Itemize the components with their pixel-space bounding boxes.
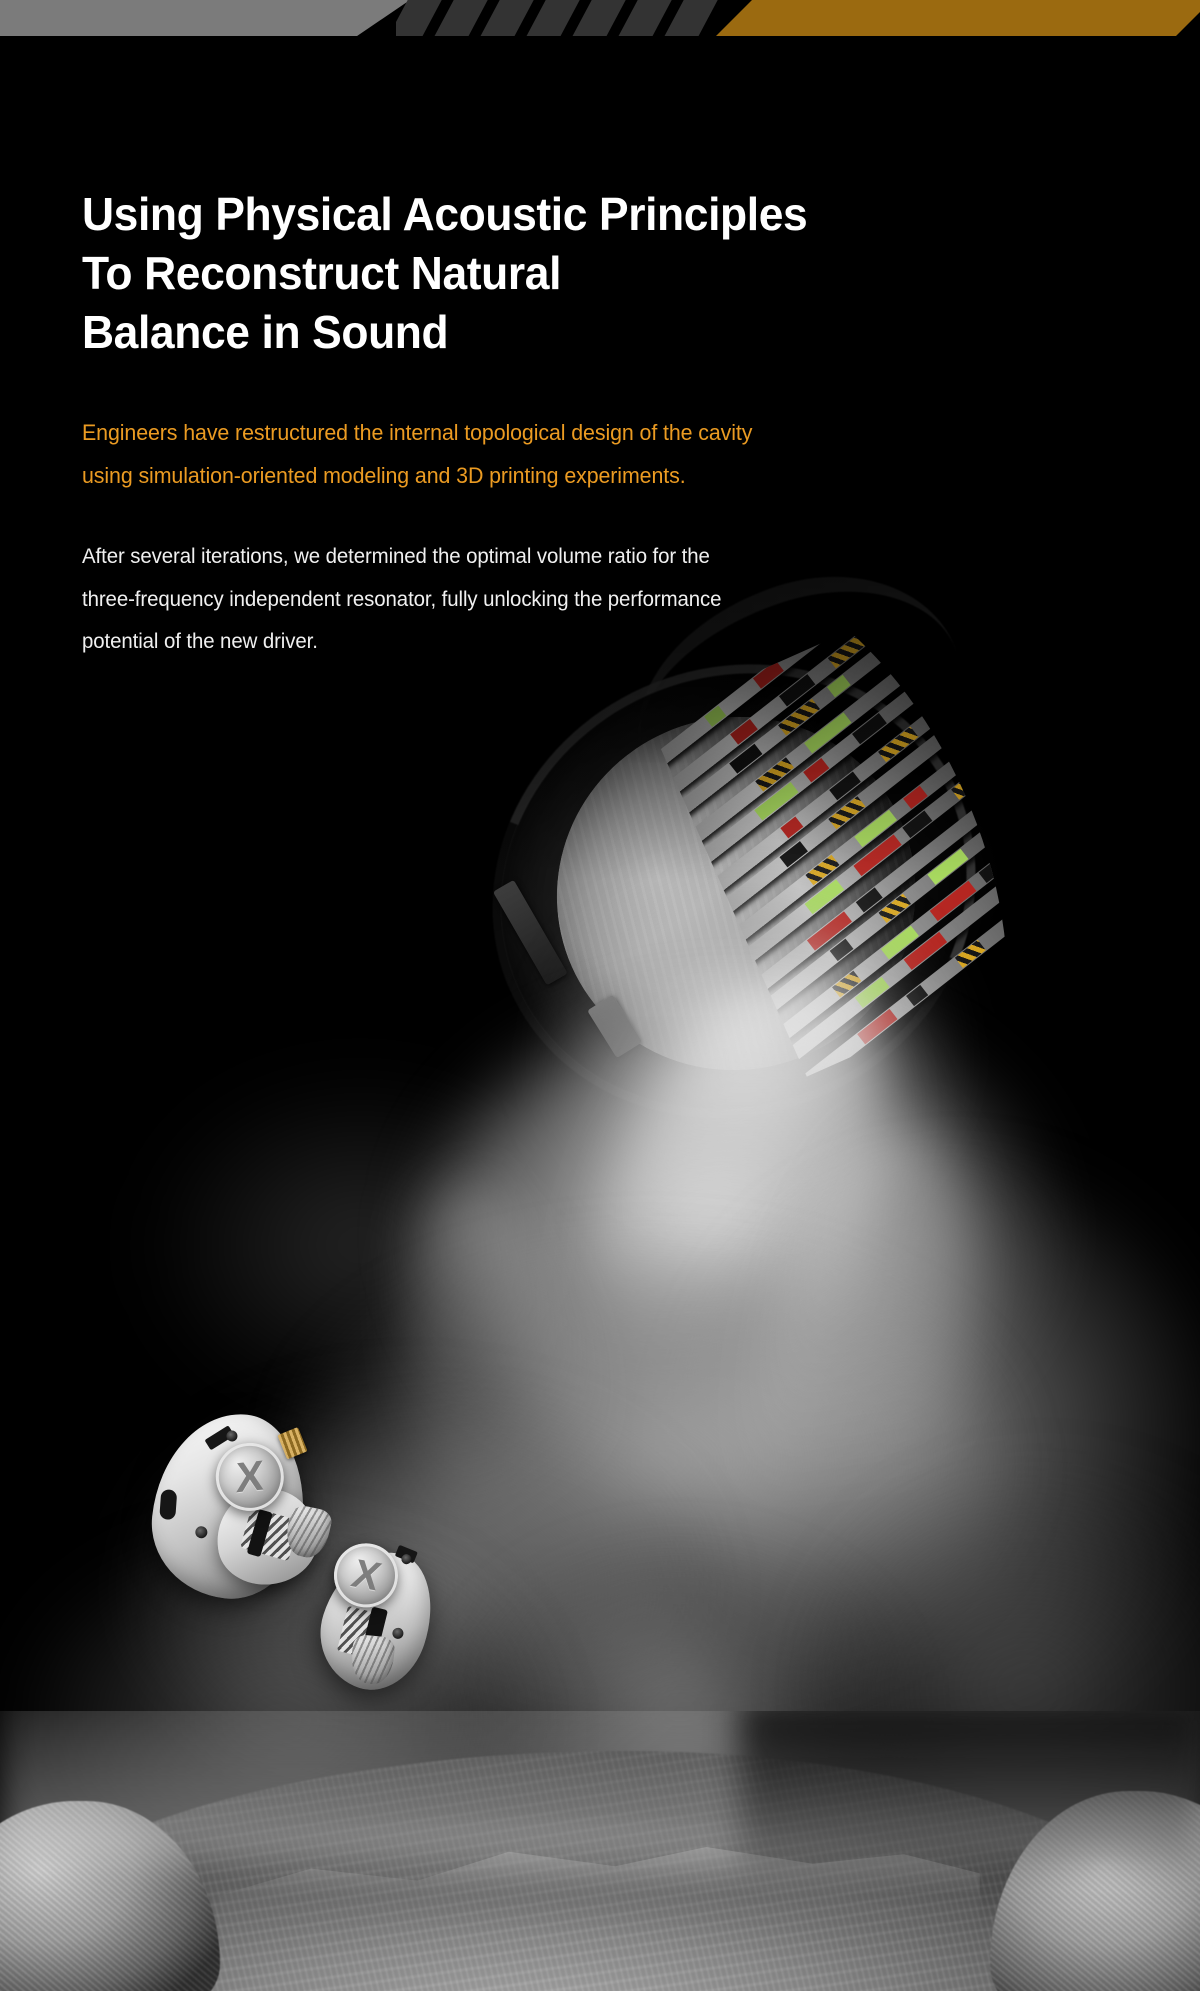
banner-base xyxy=(0,36,1200,42)
top-banner xyxy=(0,0,1200,40)
driver-component xyxy=(779,841,807,867)
driver-component xyxy=(979,857,1007,883)
driver-component xyxy=(827,675,851,698)
driver-component xyxy=(955,940,986,968)
headline-line-2: To Reconstruct Natural xyxy=(82,244,1161,303)
brand-x-logo: X xyxy=(236,1454,264,1499)
content-column: Using Physical Acoustic Principles To Re… xyxy=(0,0,1200,663)
body-line-2: three-frequency independent resonator, f… xyxy=(82,578,899,620)
driver-component xyxy=(780,816,803,838)
driver-component xyxy=(927,703,949,724)
driver-component xyxy=(856,887,883,912)
acoustic-driver-assembly xyxy=(399,566,1102,1223)
driver-component xyxy=(704,705,726,726)
headline-line-1: Using Physical Acoustic Principles xyxy=(82,185,1161,244)
lede-line-1: Engineers have restructured the internal… xyxy=(82,411,880,454)
lede-paragraph: Engineers have restructured the internal… xyxy=(82,411,880,498)
driver-component xyxy=(951,766,990,800)
driver-component xyxy=(803,758,829,782)
driver-component xyxy=(902,810,932,837)
banner-gray-segment xyxy=(0,0,410,40)
driver-component xyxy=(906,985,928,1006)
headline-line-3: Balance in Sound xyxy=(82,303,1161,362)
ground-shadow xyxy=(740,1711,1200,1871)
driver-component xyxy=(903,786,928,809)
lede-line-2: using simulation-oriented modeling and 3… xyxy=(82,454,880,497)
page-title: Using Physical Acoustic Principles To Re… xyxy=(82,185,1161,362)
earbud-vent xyxy=(159,1489,177,1520)
body-paragraph: After several iterations, we determined … xyxy=(82,535,899,662)
driver-component xyxy=(830,939,854,962)
brand-x-logo: X xyxy=(347,1554,384,1597)
product-feature-page: X X xyxy=(0,0,1200,1991)
smoke-puff xyxy=(700,1180,1200,1740)
driver-component xyxy=(730,719,758,745)
banner-orange-segment xyxy=(712,0,1200,40)
smoke-puff xyxy=(150,1080,570,1410)
body-line-3: potential of the new driver. xyxy=(82,620,899,662)
banner-hazard-stripes xyxy=(396,0,720,40)
body-line-1: After several iterations, we determined … xyxy=(82,535,899,577)
lunar-ground xyxy=(0,1711,1200,1991)
smoke-streak xyxy=(708,1105,1012,1655)
